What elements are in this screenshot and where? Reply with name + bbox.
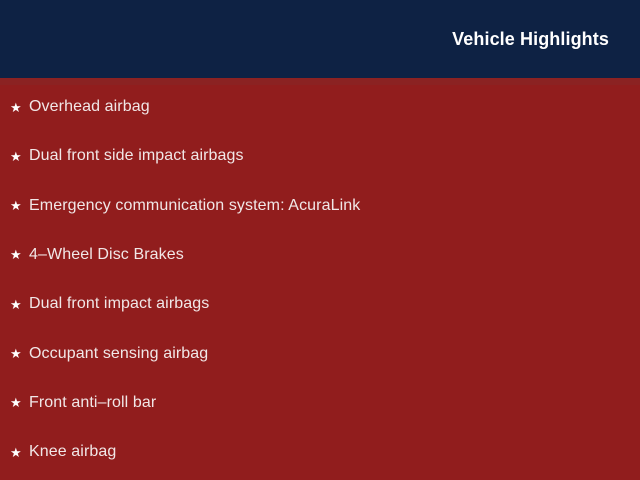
highlight-label: Dual front side impact airbags [29,146,244,166]
panel-accent-band [0,78,640,85]
star-bullet-icon: ★ [10,150,29,163]
highlight-label: Knee airbag [29,442,116,462]
list-item: ★Knee airbag [10,441,116,463]
highlight-label: Emergency communication system: AcuraLin… [29,196,360,216]
highlight-label: Occupant sensing airbag [29,344,208,364]
star-bullet-icon: ★ [10,347,29,360]
list-item: ★Emergency communication system: AcuraLi… [10,195,360,217]
list-item: ★4–Wheel Disc Brakes [10,244,184,266]
list-item: ★Overhead airbag [10,96,150,118]
highlight-label: 4–Wheel Disc Brakes [29,245,184,265]
page-header: Vehicle Highlights [0,0,640,78]
star-bullet-icon: ★ [10,101,29,114]
vehicle-highlights-slide: Vehicle Highlights ★Overhead airbag★Dual… [0,0,640,480]
list-item: ★Occupant sensing airbag [10,343,208,365]
highlight-label: Front anti–roll bar [29,393,156,413]
star-bullet-icon: ★ [10,396,29,409]
list-item: ★Dual front side impact airbags [10,145,244,167]
highlight-label: Dual front impact airbags [29,294,209,314]
list-item: ★Front anti–roll bar [10,392,156,414]
star-bullet-icon: ★ [10,298,29,311]
star-bullet-icon: ★ [10,199,29,212]
highlights-panel: ★Overhead airbag★Dual front side impact … [0,78,640,480]
page-title: Vehicle Highlights [452,30,609,48]
list-item: ★Dual front impact airbags [10,293,209,315]
star-bullet-icon: ★ [10,446,29,459]
highlight-label: Overhead airbag [29,97,150,117]
star-bullet-icon: ★ [10,248,29,261]
